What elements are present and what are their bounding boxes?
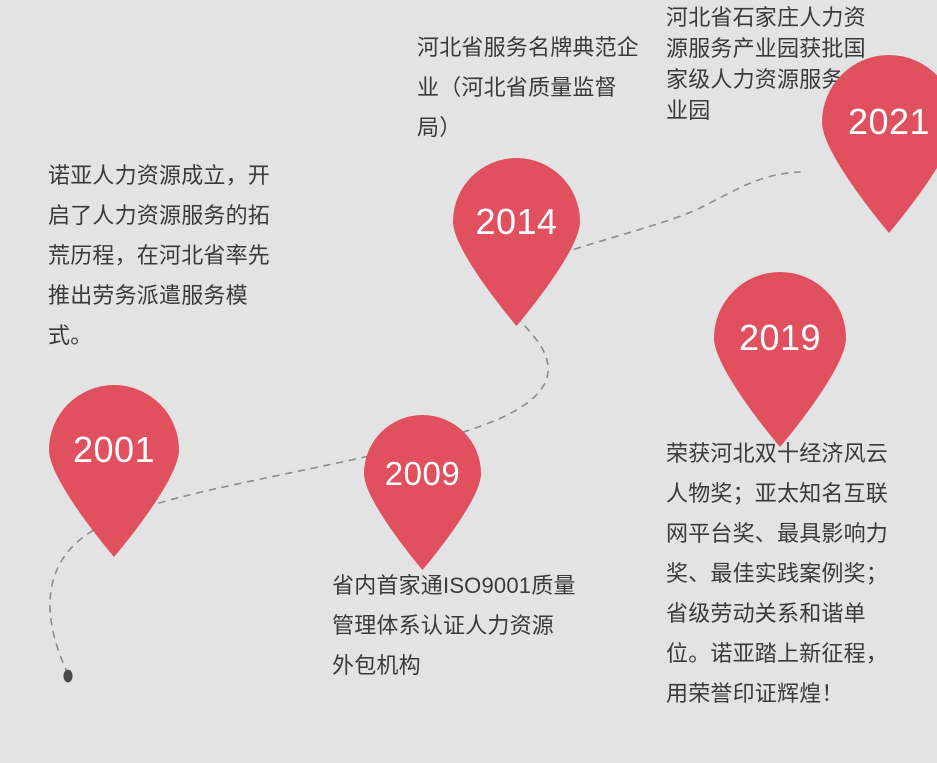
milestone-caption-2009: 省内首家通ISO9001质量管理体系认证人力资源外包机构 (332, 566, 576, 686)
milestone-caption-2014: 河北省服务名牌典范企业（河北省质量监督局） (417, 28, 643, 148)
milestone-pin-2014[interactable]: 2014 (453, 158, 580, 326)
milestone-year-2014: 2014 (453, 158, 580, 285)
milestone-pin-2021[interactable]: 2021 (822, 55, 937, 233)
milestone-pin-2019[interactable]: 2019 (714, 272, 846, 447)
milestone-caption-2001: 诺亚人力资源成立，开启了人力资源服务的拓荒历程，在河北省率先推出劳务派遣服务模式… (48, 156, 288, 356)
timeline-infographic: 诺亚人力资源成立，开启了人力资源服务的拓荒历程，在河北省率先推出劳务派遣服务模式… (0, 0, 937, 763)
milestone-year-2009: 2009 (364, 415, 481, 532)
milestone-caption-2019: 荣获河北双十经济风云人物奖；亚太知名互联网平台奖、最具影响力奖、最佳实践案例奖；… (666, 434, 898, 714)
milestone-year-2001: 2001 (49, 385, 179, 515)
path-start-dot (63, 670, 72, 683)
milestone-pin-2001[interactable]: 2001 (49, 385, 179, 557)
milestone-pin-2009[interactable]: 2009 (364, 415, 481, 570)
milestone-year-2021: 2021 (822, 55, 937, 189)
milestone-year-2019: 2019 (714, 272, 846, 404)
